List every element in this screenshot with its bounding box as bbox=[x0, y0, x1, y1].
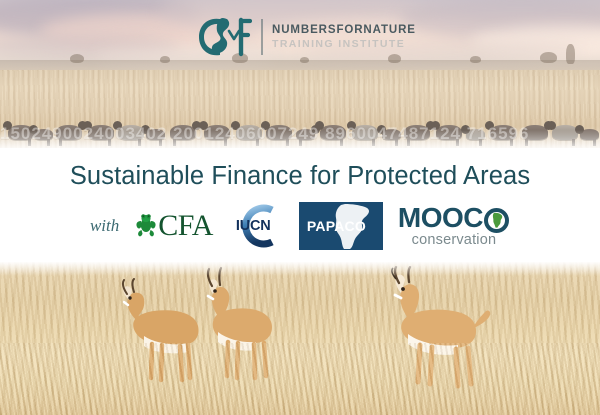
partner-logo-papaco[interactable]: PAPACO bbox=[299, 202, 383, 250]
partner-label-papaco: PAPACO bbox=[307, 218, 366, 234]
with-label: with bbox=[90, 216, 119, 236]
csf-gecko-monogram-icon bbox=[196, 12, 252, 62]
distant-tree bbox=[470, 56, 481, 63]
partner-label-iucn: IUCN bbox=[236, 218, 271, 234]
logo-divider bbox=[261, 19, 263, 55]
frog-icon bbox=[135, 211, 157, 242]
partner-logo-cfa[interactable]: CFA bbox=[135, 211, 213, 242]
partner-logo-row: with CF bbox=[0, 200, 600, 252]
title-band: Sustainable Finance for Protected Areas … bbox=[0, 148, 600, 262]
logo-line-2: TRAINING INSTITUTE bbox=[272, 39, 416, 50]
photo-bottom-fade bbox=[0, 130, 600, 150]
partner-logo-mooc[interactable]: MOOC conservation bbox=[398, 204, 510, 248]
distant-tree bbox=[160, 56, 170, 63]
page-title: Sustainable Finance for Protected Areas bbox=[0, 162, 600, 191]
africa-in-o-icon bbox=[484, 206, 509, 231]
csf-logo[interactable]: NUMBERSFORNATURE TRAINING INSTITUTE bbox=[196, 12, 416, 62]
partner-label-cfa: CFA bbox=[158, 211, 213, 241]
iucn-ring-icon bbox=[228, 236, 284, 253]
course-banner: 1502490024003402 20012406007249 89600474… bbox=[0, 0, 600, 415]
partner-label-mooc: MOOC bbox=[398, 204, 483, 232]
partner-logo-iucn[interactable]: IUCN bbox=[228, 203, 284, 249]
distant-tree bbox=[70, 54, 84, 63]
logo-wordmark: NUMBERSFORNATURE TRAINING INSTITUTE bbox=[272, 25, 416, 50]
partner-sublabel-mooc: conservation bbox=[412, 233, 497, 248]
distant-tree bbox=[540, 52, 557, 63]
mooc-wordmark: MOOC bbox=[398, 204, 510, 232]
distant-tree bbox=[566, 44, 575, 64]
foreground-grass bbox=[0, 343, 600, 415]
logo-line-1: NUMBERSFORNATURE bbox=[272, 25, 416, 37]
springbok-dry-grass-photo bbox=[0, 262, 600, 415]
photo-top-fade bbox=[0, 262, 600, 276]
